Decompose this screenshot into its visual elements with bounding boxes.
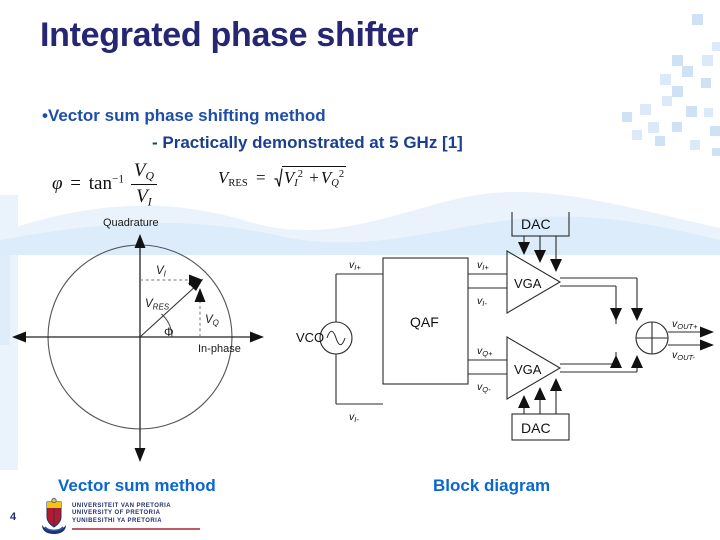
decor-square bbox=[690, 140, 700, 150]
decor-square bbox=[622, 112, 632, 122]
arrow-sum-in-top-2 bbox=[610, 308, 622, 321]
vres-label: VRES bbox=[145, 298, 170, 312]
arrow-sum-in-bot-1 bbox=[631, 355, 643, 368]
block-diagram-figure bbox=[320, 212, 708, 440]
arrow-sum-in-top-1 bbox=[631, 308, 643, 321]
logo-underline bbox=[72, 528, 200, 530]
formula-vres-t2-sup: 2 bbox=[339, 169, 344, 180]
signal-qaf-out-3: vQ+ bbox=[477, 345, 493, 358]
decor-square bbox=[672, 55, 683, 66]
figures-area: Quadrature In-phase VI VRES VQ Φ bbox=[0, 212, 720, 462]
page-title: Integrated phase shifter bbox=[40, 16, 418, 55]
axis-arrow-down bbox=[135, 448, 146, 462]
caption-vector-sum-method: Vector sum method bbox=[58, 476, 216, 496]
decor-square bbox=[640, 104, 651, 115]
decor-square bbox=[712, 42, 720, 51]
bullet-item-2: - Practically demonstrated at 5 GHz [1] bbox=[152, 133, 463, 153]
decor-square bbox=[648, 122, 659, 133]
arrow-dac-top-1 bbox=[518, 242, 530, 255]
decor-square bbox=[662, 96, 672, 106]
vga-top-label: VGA bbox=[514, 276, 542, 291]
slide-root: Integrated phase shifter •Vector sum pha… bbox=[0, 0, 720, 540]
axis-arrow-up bbox=[135, 234, 146, 248]
qaf-label: QAF bbox=[410, 314, 439, 330]
axis-arrow-right bbox=[250, 332, 264, 343]
slide-number: 4 bbox=[10, 511, 16, 523]
arrow-dac-bot-1 bbox=[518, 395, 530, 408]
signal-vout-minus: vOUT- bbox=[672, 349, 695, 362]
crest-icon bbox=[42, 498, 66, 534]
formula-phi-exponent: −1 bbox=[112, 173, 124, 185]
decor-square bbox=[672, 86, 683, 97]
decor-square bbox=[692, 14, 703, 25]
decor-square bbox=[701, 78, 711, 88]
sine-wave-icon bbox=[327, 331, 345, 345]
decor-square bbox=[686, 106, 697, 117]
phase-symbol-label: Φ bbox=[164, 325, 174, 339]
formula-vres-t1-sup: 2 bbox=[298, 169, 303, 180]
decor-square bbox=[655, 136, 665, 146]
dac-top-label: DAC bbox=[521, 216, 551, 232]
arrow-vout-minus bbox=[700, 340, 714, 351]
arrow-vout-plus bbox=[700, 327, 714, 338]
signal-qaf-out-1: vI+ bbox=[477, 259, 489, 272]
vi-label: VI bbox=[156, 265, 167, 279]
formula-phi-num-base: V bbox=[134, 160, 146, 181]
formula-phi-symbol: φ bbox=[52, 173, 63, 194]
logo-line-3: YUNIBESITHI YA PRETORIA bbox=[72, 518, 171, 525]
logo-line-1: UNIVERSITEIT VAN PRETORIA bbox=[72, 503, 171, 510]
decor-square bbox=[702, 55, 713, 66]
signal-qaf-out-4: vQ- bbox=[477, 381, 491, 394]
formula-phi-den-base: V bbox=[136, 186, 148, 207]
formula-vres-t1-base: V bbox=[284, 168, 294, 187]
arrow-sum-in-bot-2 bbox=[610, 355, 622, 368]
formula-phase: φ = tan−1 VQ VI bbox=[52, 160, 159, 210]
vga-bottom-label: VGA bbox=[514, 362, 542, 377]
decor-square bbox=[660, 74, 671, 85]
signal-qaf-out-2: vI- bbox=[477, 295, 487, 308]
decor-square bbox=[704, 108, 713, 117]
bullet-item-1: •Vector sum phase shifting method bbox=[42, 106, 326, 126]
in-phase-label: In-phase bbox=[198, 343, 241, 355]
formula-phi-denominator: VI bbox=[131, 185, 157, 209]
formula-vres: VRES = VI2 +VQ2 bbox=[218, 166, 346, 189]
formula-vres-radical: VI2 +VQ2 bbox=[274, 166, 346, 189]
vco-label: VCO bbox=[296, 330, 324, 345]
figures-svg: Quadrature In-phase VI VRES VQ Φ bbox=[0, 212, 720, 462]
formula-vres-sub: RES bbox=[228, 178, 247, 189]
logo-wordmark: UNIVERSITEIT VAN PRETORIA UNIVERSITY OF … bbox=[72, 503, 171, 525]
quadrature-label: Quadrature bbox=[103, 217, 159, 229]
arrow-dac-bot-3 bbox=[550, 378, 562, 391]
formula-phi-num-sub: Q bbox=[145, 169, 154, 182]
decor-square bbox=[682, 66, 693, 77]
decor-square bbox=[710, 126, 720, 136]
block-diagram-labels: VCO QAF VGA VGA DAC DAC vI+ vI- vI+ vI- … bbox=[296, 216, 698, 436]
decor-square bbox=[672, 122, 682, 132]
formula-vres-t2-base: V bbox=[321, 168, 331, 187]
formula-phi-numerator: VQ bbox=[131, 160, 157, 185]
signal-vco-bottom: vI- bbox=[349, 411, 359, 424]
arrow-dac-bot-2 bbox=[534, 387, 546, 400]
dac-bottom-label: DAC bbox=[521, 420, 551, 436]
formula-vres-equals: = bbox=[256, 168, 266, 187]
formula-vres-t2-sub: Q bbox=[331, 178, 339, 189]
formula-phi-tan: tan bbox=[89, 173, 112, 194]
vq-label: VQ bbox=[205, 314, 219, 328]
logo-line-2: UNIVERSITY OF PRETORIA bbox=[72, 510, 171, 517]
signal-vco-top: vI+ bbox=[349, 259, 361, 272]
formula-vres-base: V bbox=[218, 168, 228, 187]
formula-vres-plus: + bbox=[309, 168, 319, 187]
arrow-dac-top-2 bbox=[534, 250, 546, 263]
formula-phi-equals: = bbox=[70, 173, 81, 194]
formula-phi-den-sub: I bbox=[148, 196, 152, 209]
decor-square bbox=[712, 148, 720, 156]
axis-arrow-left bbox=[12, 332, 26, 343]
arrow-dac-top-3 bbox=[550, 259, 562, 272]
formula-phi-fraction: VQ VI bbox=[131, 160, 157, 210]
decor-square bbox=[632, 130, 642, 140]
signal-vout-plus: vOUT+ bbox=[672, 318, 698, 331]
caption-block-diagram: Block diagram bbox=[433, 476, 550, 496]
